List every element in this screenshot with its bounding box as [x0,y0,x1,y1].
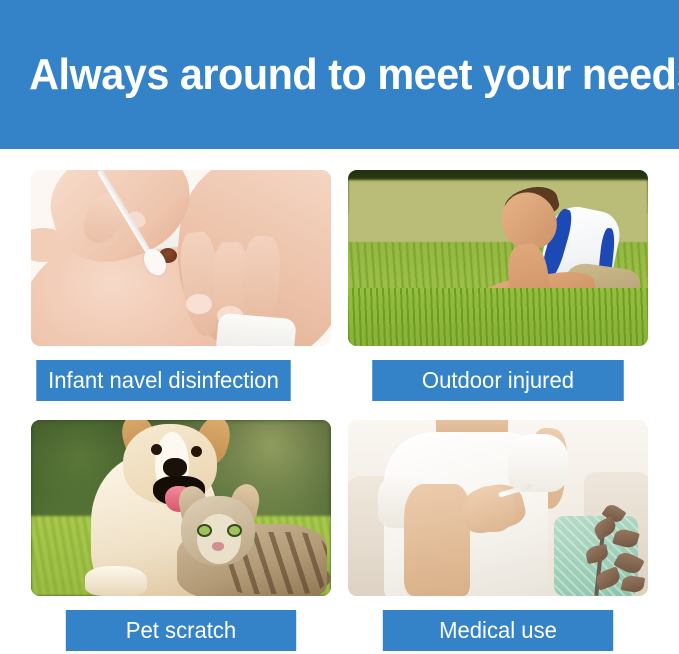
caption-row: Infant navel disinfection [31,346,331,401]
dog-eye-shape [151,444,162,455]
caption-outdoor-injured: Outdoor injured [372,360,624,401]
use-case-card-medical-use: Medical use [348,420,648,651]
page-title: Always around to meet your needs [0,53,679,97]
diaper-lower-shape [215,313,296,346]
caption-infant-navel-disinfection: Infant navel disinfection [36,360,290,401]
lower-arm-shape [404,484,470,596]
use-case-card-infant-navel-disinfection: Infant navel disinfection [31,170,331,401]
caption-pet-scratch: Pet scratch [66,610,296,651]
cat-nose-shape [212,542,224,551]
caption-row: Outdoor injured [348,346,648,401]
cat-eye-shape [197,524,212,537]
use-case-card-outdoor-injured: Outdoor injured [348,170,648,401]
dog-paw-shape [85,566,147,596]
caption-medical-use: Medical use [383,610,613,651]
caption-row: Pet scratch [31,596,331,651]
infant-navel-disinfection-photo [31,170,331,346]
fingernail-shape [186,294,212,314]
outdoor-injured-photo [348,170,648,346]
foreground-grass-shape [348,288,648,346]
use-case-grid: Infant navel disinfection Outdoor inju [0,149,679,654]
medical-use-photo [348,420,648,596]
header-banner: Always around to meet your needs [0,0,679,149]
use-case-card-pet-scratch: Pet scratch [31,420,331,651]
dog-eye-shape [191,446,202,457]
cat-muzzle-shape [197,514,241,564]
dog-nose-shape [163,458,187,477]
pet-scratch-photo [31,420,331,596]
cat-eye-shape [227,524,242,537]
sleeve-shape [508,434,568,492]
caption-row: Medical use [348,596,648,651]
